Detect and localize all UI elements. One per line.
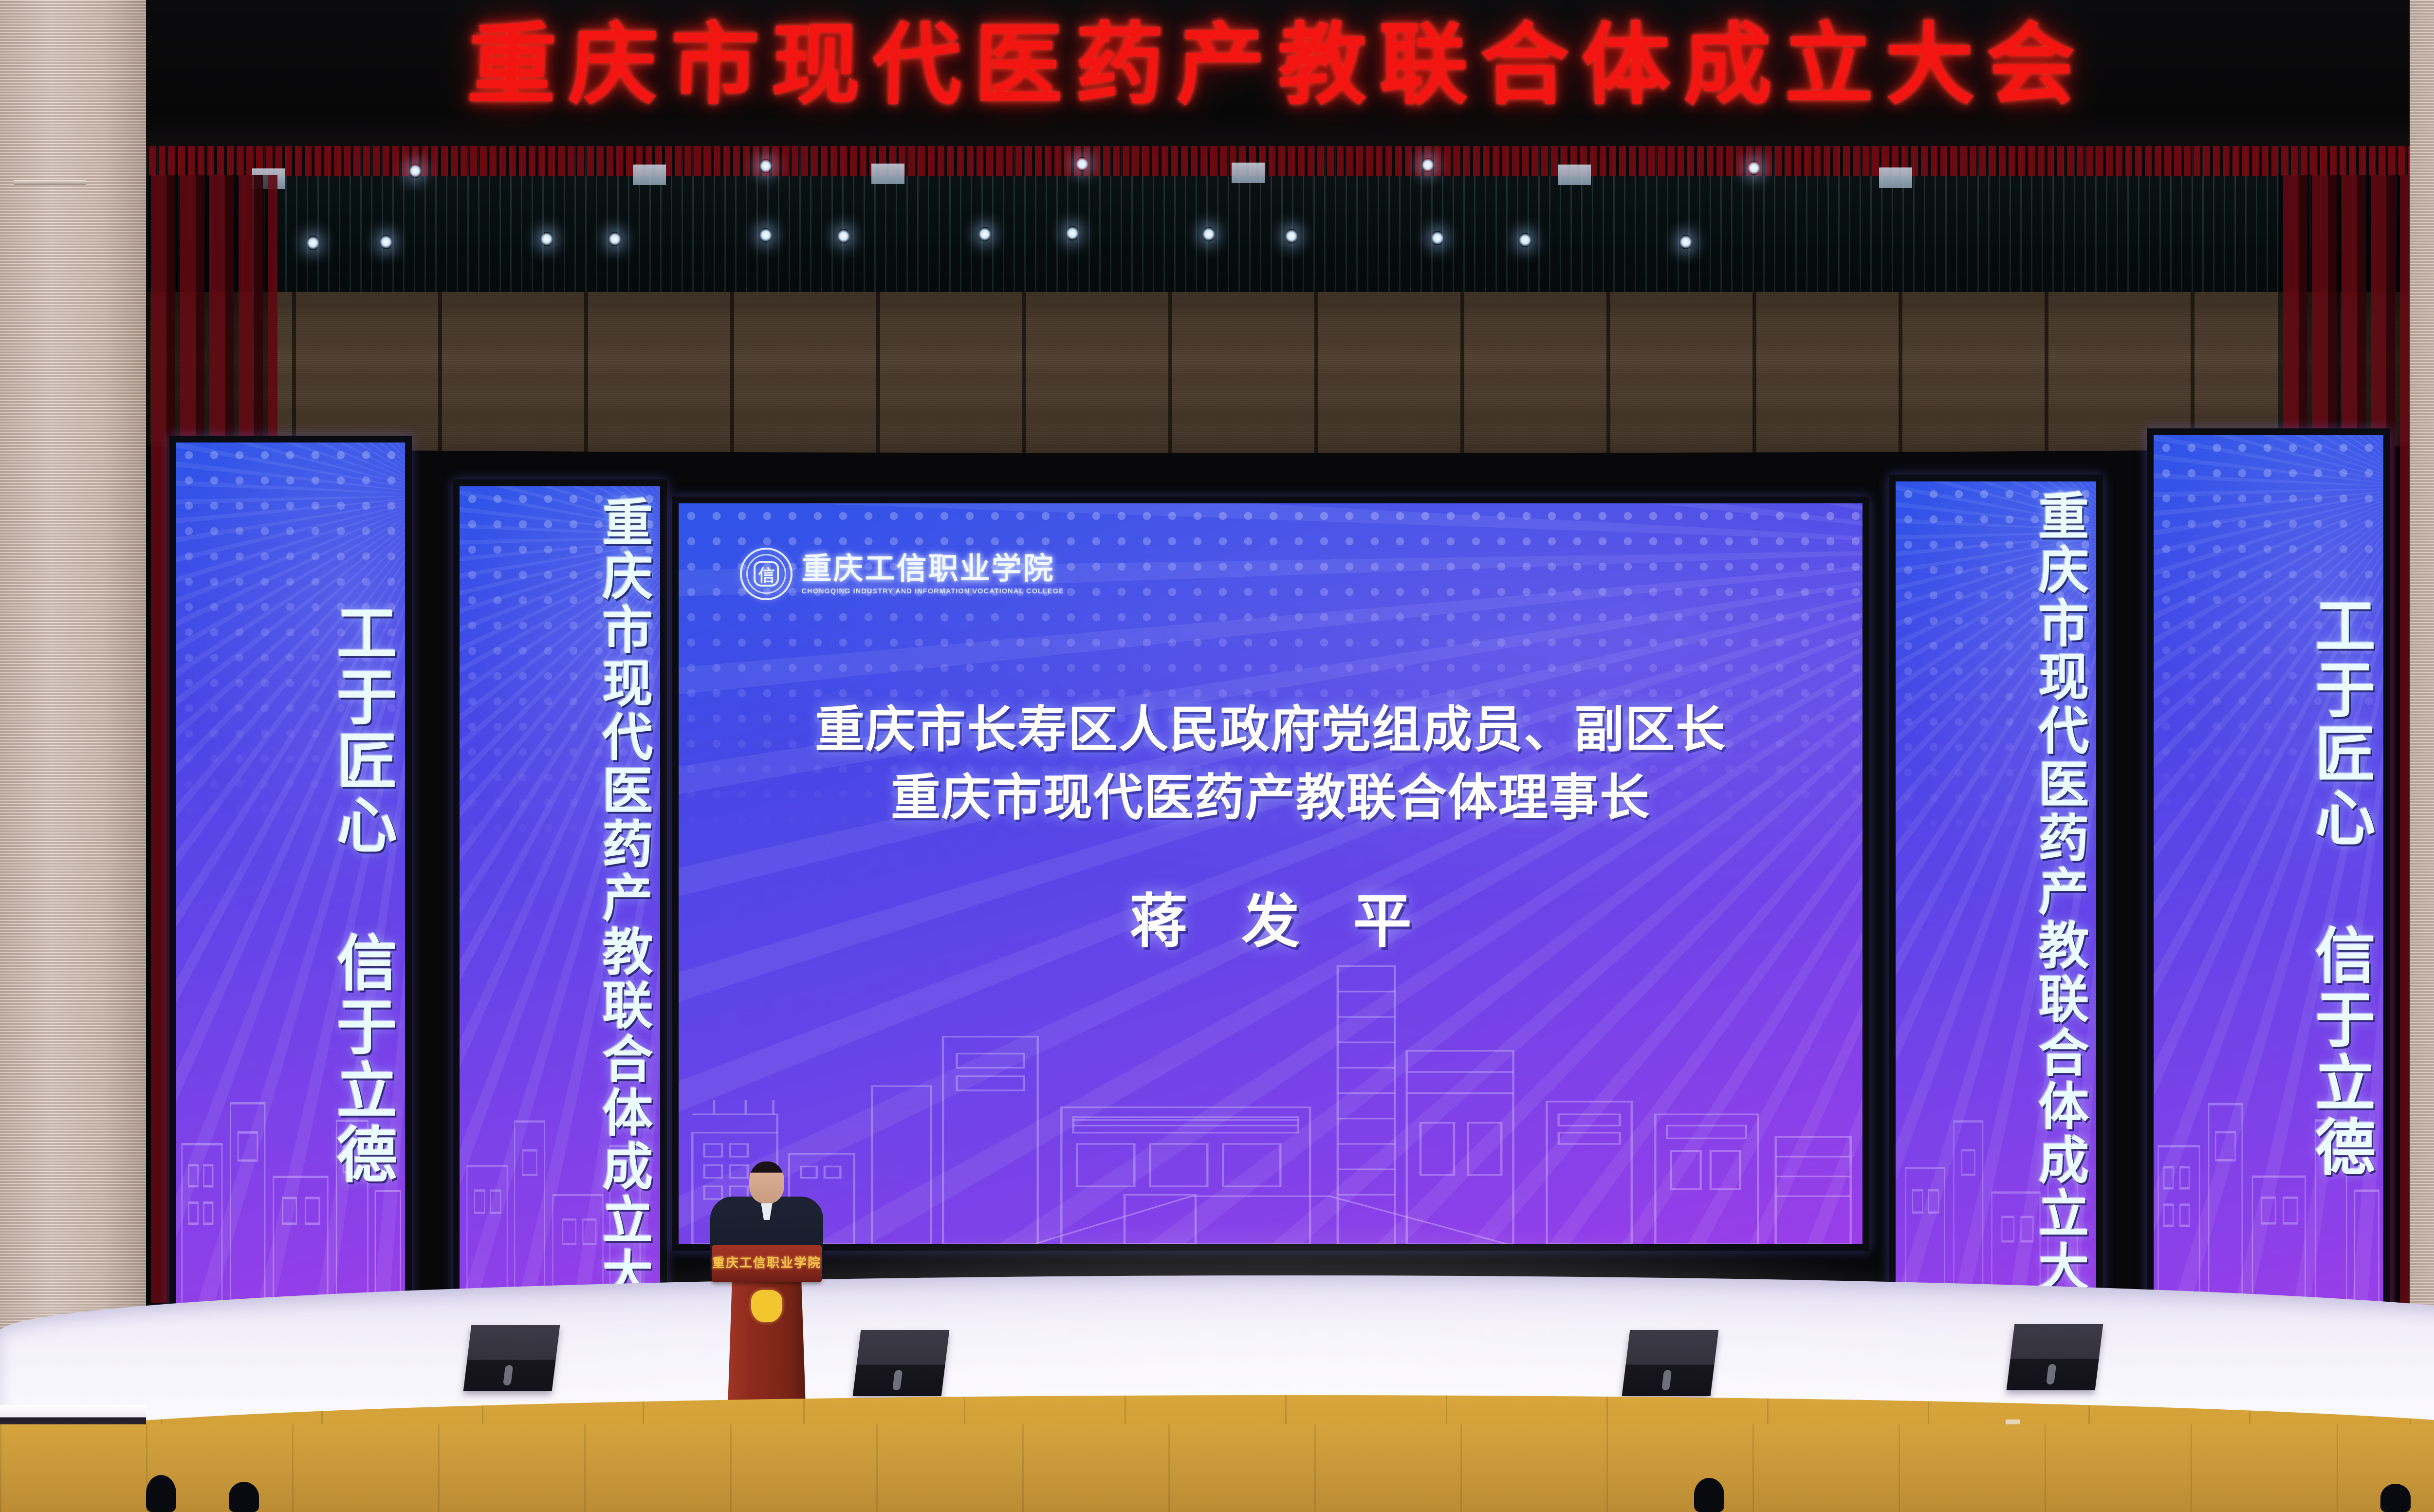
rig-panel-fixture (1558, 165, 1591, 185)
speaker-head (749, 1162, 784, 1203)
led-marquee-title: 重庆市现代医药产教联合体成立大会 (146, 20, 2410, 109)
rig-light (1285, 229, 1298, 243)
main-led-screen: 信 重庆工信职业学院 CHONGQING INDUSTRY AND INFORM… (672, 497, 1869, 1251)
stage-monitor-speaker (2007, 1324, 2103, 1390)
auditorium-wall-left (0, 0, 146, 1512)
rig-light (1748, 161, 1760, 175)
red-valance (146, 146, 2410, 176)
speaker-title-line-1: 重庆市长寿区人民政府党组成员、副区长 (679, 696, 1862, 765)
rig-light (307, 236, 319, 250)
college-name-en: CHONGQING INDUSTRY AND INFORMATION VOCAT… (801, 588, 1064, 595)
college-logo: 信 重庆工信职业学院 CHONGQING INDUSTRY AND INFORM… (740, 548, 1064, 600)
wall-vent-left (14, 180, 87, 185)
screen-text-block: 重庆市长寿区人民政府党组成员、副区长 重庆市现代医药产教联合体理事长 蒋 发 平 (679, 696, 1862, 959)
rig-panel-fixture (1232, 163, 1265, 183)
led-banner-far-left: 工于匠心 信于立德 (169, 436, 412, 1327)
auditorium-wall-right (2410, 0, 2434, 1512)
rig-panel-fixture (633, 165, 666, 185)
rig-light (1431, 231, 1444, 245)
college-logo-text: 重庆工信职业学院 CHONGQING INDUSTRY AND INFORMAT… (801, 553, 1064, 595)
rig-light (1519, 233, 1531, 247)
podium-desktop: 重庆工信职业学院 (712, 1245, 822, 1282)
audience-silhouette (146, 1475, 176, 1512)
banner-far-right-text: 工于匠心 信于立德 (2154, 435, 2383, 1312)
rig-panel-fixture (871, 164, 904, 184)
college-seal-icon: 信 (740, 548, 793, 600)
rig-light (978, 227, 991, 241)
back-wall-wood-panels (146, 292, 2410, 453)
podium: 重庆工信职业学院 (720, 1245, 813, 1420)
stage-monitor-speaker (463, 1325, 560, 1391)
rig-light (1076, 157, 1088, 171)
stage-monitor-speaker (853, 1330, 950, 1396)
rig-light (759, 159, 772, 173)
rig-light (540, 232, 553, 246)
auditorium-stage-photo: 重庆市现代医药产教联合体成立大会 (0, 0, 2434, 1512)
rig-light (759, 228, 772, 242)
speaker-title-line-2: 重庆市现代医药产教联合体理事长 (679, 764, 1862, 833)
rig-light (837, 229, 850, 243)
audience-silhouette (229, 1482, 259, 1512)
screen-city-wireframe (679, 948, 1862, 1244)
led-banner-far-right: 工于匠心 信于立德 (2147, 428, 2390, 1319)
podium-nameplate: 重庆工信职业学院 (712, 1253, 822, 1271)
speaker-name: 蒋 发 平 (679, 874, 1862, 959)
banner-inner-left-text: 重庆市现代医药产教联合体成立大会 (460, 486, 660, 1322)
college-name-cn: 重庆工信职业学院 (801, 553, 1064, 584)
led-banner-inner-right: 重庆市现代医药产教联合体成立大会 (1889, 475, 2103, 1322)
stage-monitor-speaker (1622, 1330, 1719, 1396)
audience-silhouette (2380, 1484, 2411, 1512)
banner-inner-right-text: 重庆市现代医药产教联合体成立大会 (1896, 481, 2096, 1315)
rig-light (1679, 235, 1692, 249)
audience-silhouette (1694, 1478, 1724, 1512)
rig-light (409, 164, 422, 178)
rig-light (380, 235, 392, 249)
led-banner-inner-left: 重庆市现代医药产教联合体成立大会 (453, 479, 667, 1329)
rig-panel-fixture (1879, 167, 1912, 188)
rig-light (1066, 226, 1079, 240)
back-curtain-upper (146, 146, 2410, 307)
podium-emblem-icon (751, 1290, 782, 1322)
house-floor-panels (0, 1424, 2434, 1512)
rig-light (608, 232, 621, 246)
seal-character: 信 (742, 550, 791, 598)
rig-light (1421, 158, 1434, 172)
rig-light (1202, 227, 1215, 241)
proscenium-header: 重庆市现代医药产教联合体成立大会 (146, 0, 2410, 166)
banner-far-left-text: 工于匠心 信于立德 (176, 443, 405, 1320)
